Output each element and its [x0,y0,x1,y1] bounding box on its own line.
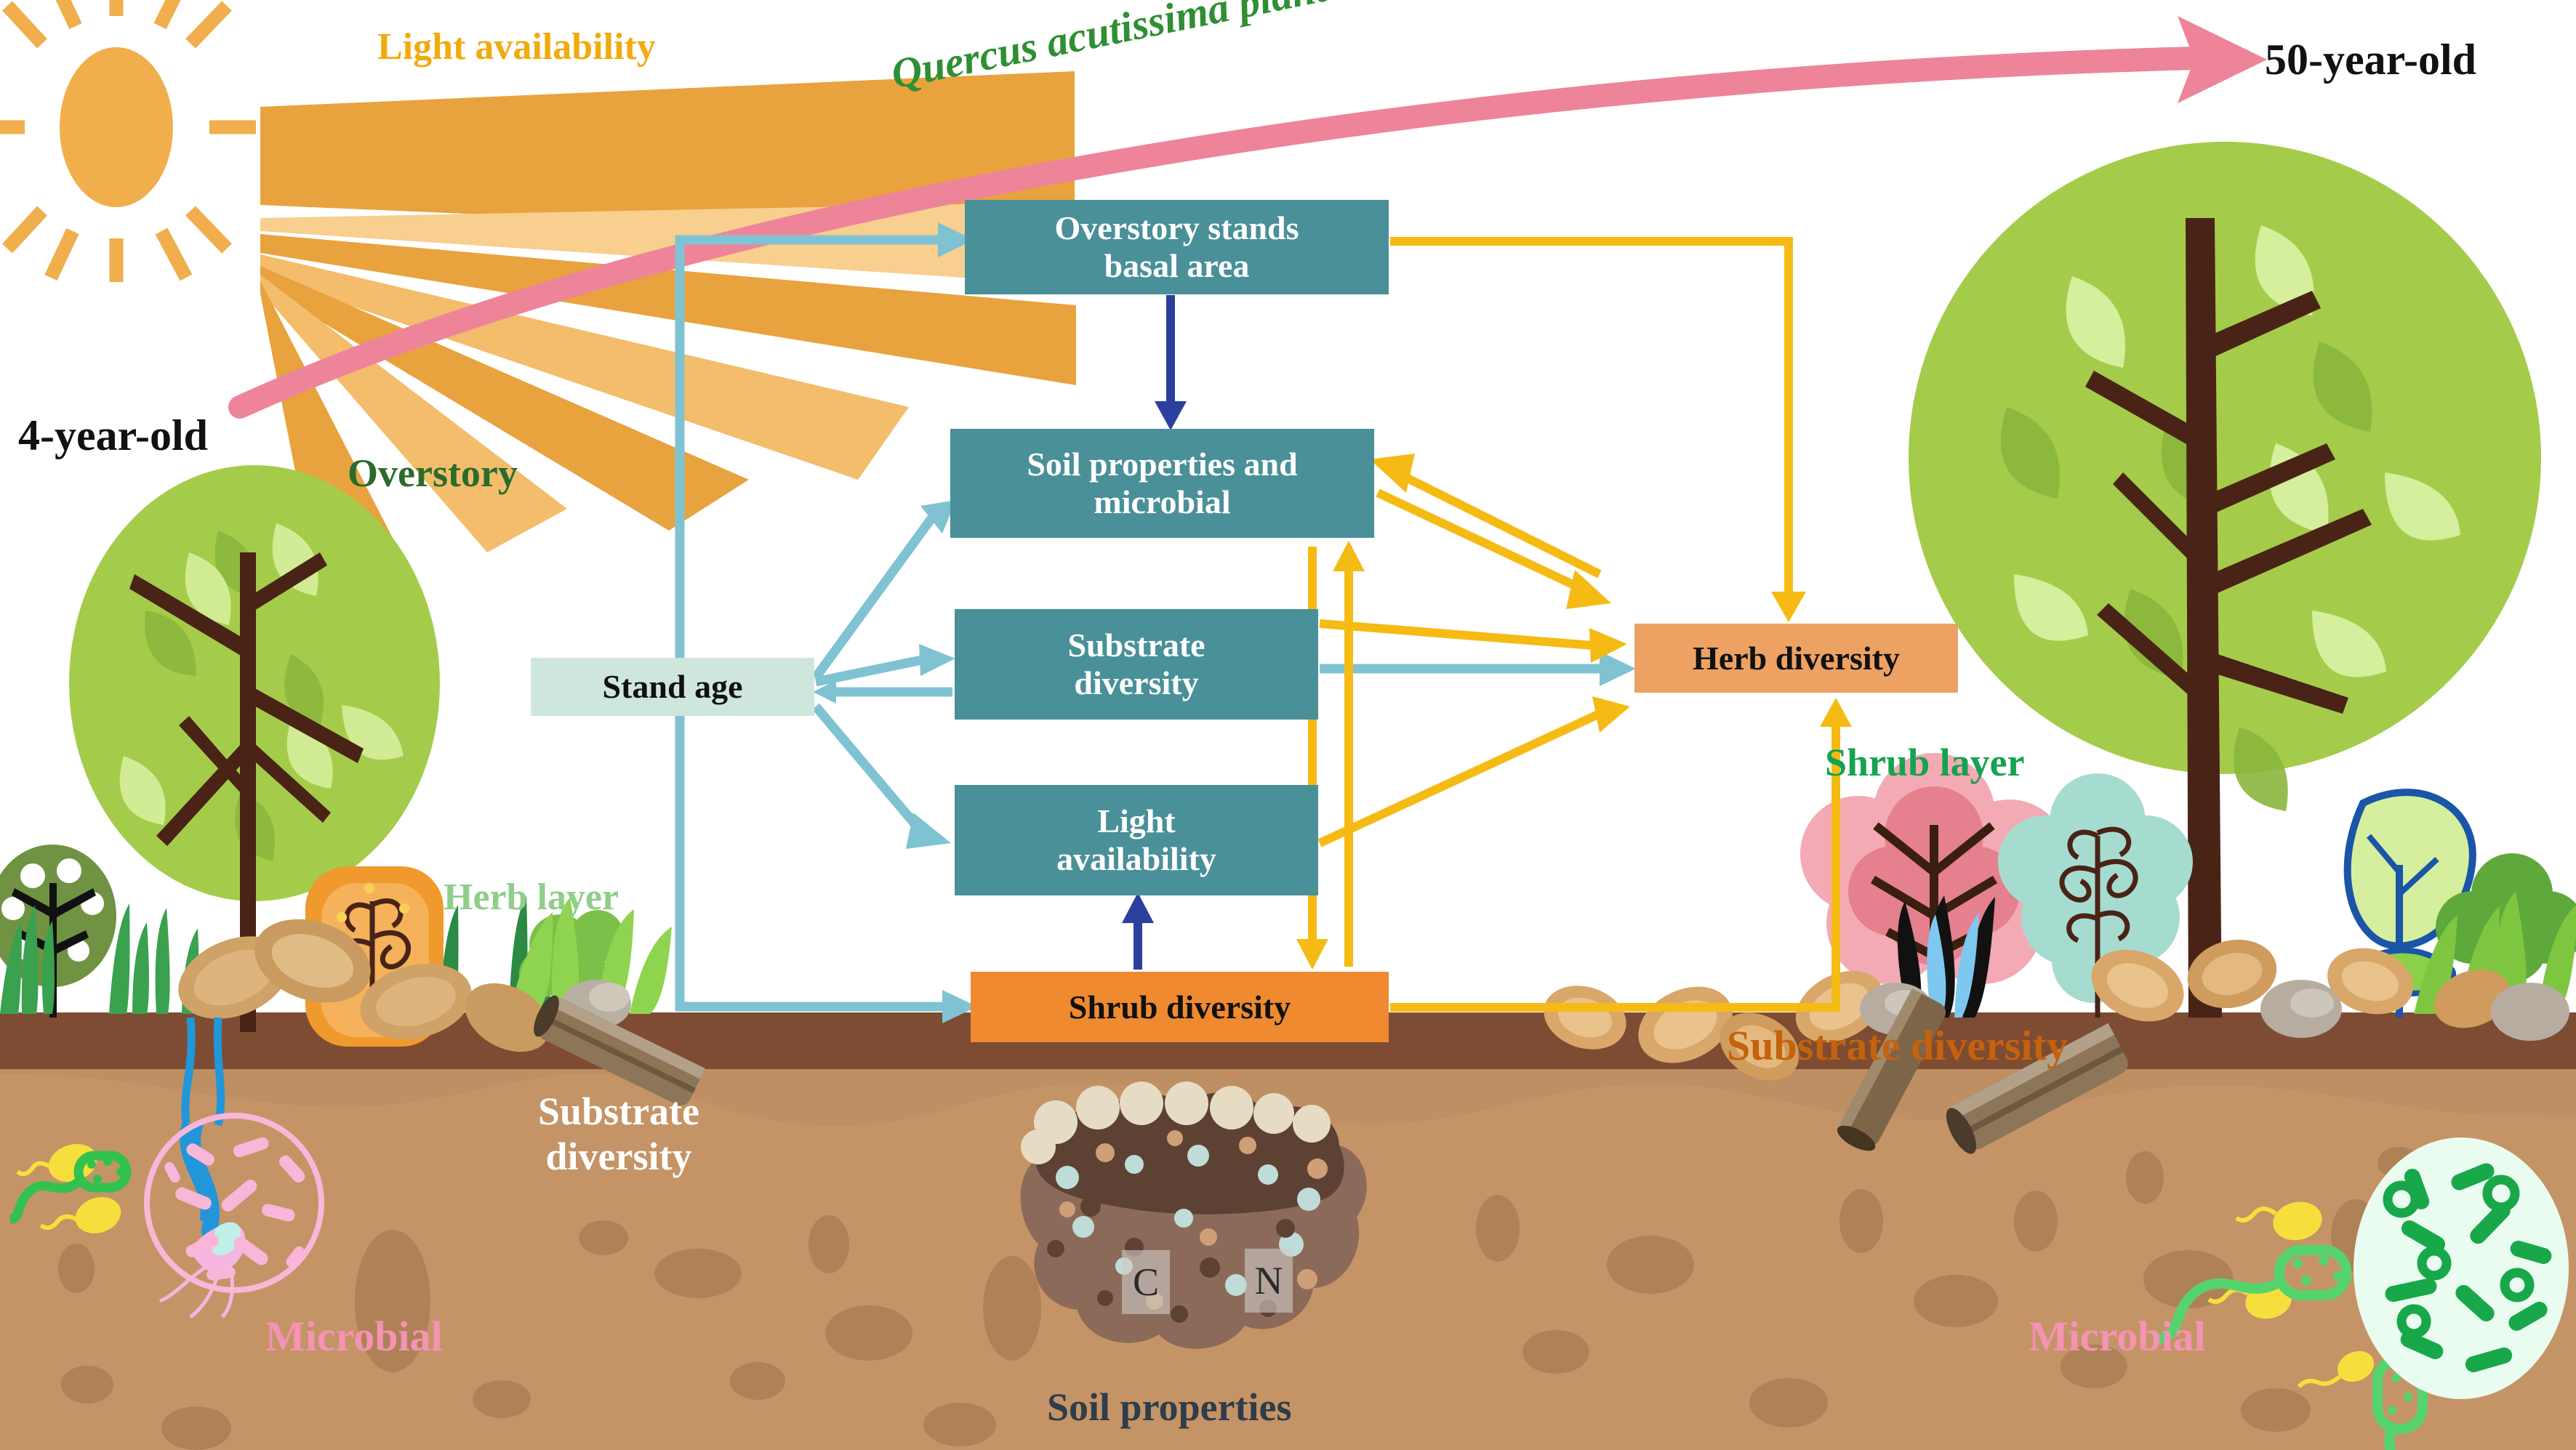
edge-soil-herb [1378,493,1585,590]
edge-standage-soil [816,517,932,677]
label-stand-age-end: 50-year-old [2265,35,2476,85]
microbe-petri-right [2354,1137,2569,1399]
node-shrub-diversity[interactable]: Shrub diversity [971,972,1389,1042]
edge-substrate-herb-yellow [1320,624,1592,645]
label-microbial-right: Microbial [2029,1312,2206,1361]
label-substrate-diversity-right: Substrate diversity [1727,1021,2068,1070]
edge-overstory-herb [1390,241,1789,593]
node-light-availability[interactable]: Lightavailability [955,785,1318,895]
edge-standage-shrub [680,688,942,1007]
edge-herb-soil [1396,472,1600,574]
label-nitrogen-block: N [1245,1249,1293,1313]
label-herb-layer: Herb layer [444,876,619,919]
label-carbon-block: C [1122,1250,1170,1314]
edge-standage-light [816,706,925,836]
node-overstory-basal[interactable]: Overstory standsbasal area [965,200,1389,294]
edge-light-herb [1320,714,1600,843]
node-stand-age[interactable]: Stand age [531,658,814,716]
label-substrate-diversity-left: Substratediversity [538,1089,699,1179]
node-herb-diversity[interactable]: Herb diversity [1634,624,1958,693]
sun-icon [0,0,256,282]
label-microbial-left: Microbial [265,1312,443,1361]
node-soil-microbial[interactable]: Soil properties andmicrobial [950,429,1374,538]
label-shrub-layer: Shrub layer [1825,740,2025,785]
label-overstory: Overstory [348,451,518,496]
edge-shrub-herb [1390,727,1836,1007]
infographic-canvas: Light availability 4-year-old 50-year-ol… [0,0,2576,1450]
label-stand-age-start: 4-year-old [18,411,208,461]
node-substrate-diversity[interactable]: Substratediversity [955,609,1318,720]
label-light-availability: Light availability [377,25,656,68]
label-soil-properties: Soil properties [1047,1385,1292,1430]
